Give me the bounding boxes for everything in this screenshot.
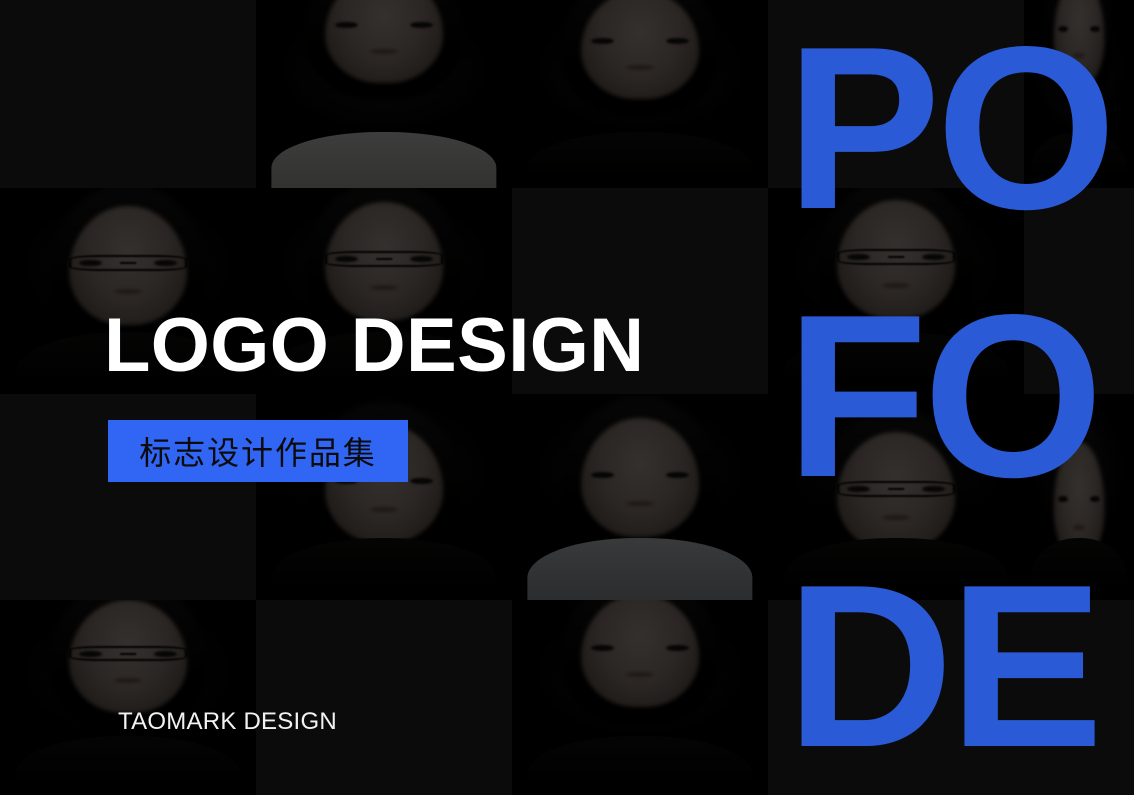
brand-name: TAOMARK DESIGN	[118, 708, 337, 736]
cell-r4c1	[0, 600, 256, 795]
poster-canvas: POFODE LOGO DESIGN 标志设计作品集 TAOMARK DESIG…	[0, 0, 1134, 795]
cell-r4c3	[512, 600, 768, 795]
portrait-photo	[0, 600, 256, 795]
page-title: LOGO DESIGN	[104, 308, 644, 384]
cell-r1c1	[0, 0, 256, 188]
portrait-photo	[256, 0, 512, 188]
subtitle-badge: 标志设计作品集	[108, 420, 408, 482]
cell-r3c3	[512, 394, 768, 600]
cell-r1c2	[256, 0, 512, 188]
cell-r1c3	[512, 0, 768, 188]
cell-r4c2	[256, 600, 512, 795]
display-letters-line-2: FO	[786, 300, 1099, 495]
display-letters-line-3: DE	[786, 570, 1099, 765]
portrait-photo	[512, 600, 768, 795]
subtitle-badge-label: 标志设计作品集	[139, 428, 376, 474]
portrait-photo	[512, 0, 768, 188]
display-letters-line-1: PO	[786, 32, 1112, 227]
portrait-photo	[512, 394, 768, 600]
